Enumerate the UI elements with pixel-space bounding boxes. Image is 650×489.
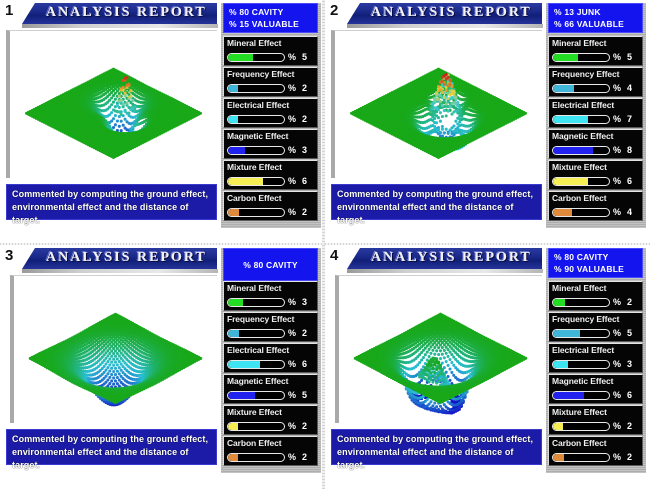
meter-mineral[interactable]: Mineral Effect%5 (223, 36, 318, 66)
meter-fill (553, 361, 568, 368)
meter-percent-symbol: % (288, 176, 296, 186)
meter-fill (553, 54, 578, 61)
meter-electrical[interactable]: Electrical Effect%3 (548, 343, 643, 373)
meter-percent-symbol: % (288, 297, 296, 307)
meter-value: 5 (627, 52, 632, 62)
meter-track (227, 146, 285, 155)
meter-track (552, 391, 610, 400)
comment-line-1: Commented by computing the ground effect… (337, 188, 537, 201)
meter-track (552, 115, 610, 124)
meter-track (552, 453, 610, 462)
meter-percent-symbol: % (288, 452, 296, 462)
status-line-1: % 80 CAVITY (243, 259, 297, 271)
meter-track (227, 329, 285, 338)
terrain-surface-plot (14, 276, 217, 423)
terrain-surface-plot (339, 276, 542, 423)
status-line-2: % 66 VALUABLE (554, 18, 642, 30)
title-bar: ANALYSIS REPORT (22, 248, 217, 269)
meter-label: Electrical Effect (552, 345, 614, 355)
meter-label: Magnetic Effect (552, 376, 613, 386)
meter-magnetic[interactable]: Magnetic Effect%3 (223, 129, 318, 159)
comment-line-2: environmental effect and the distance of… (12, 201, 212, 227)
effect-meter-list: Mineral Effect%3Frequency Effect%2Electr… (223, 281, 318, 467)
meter-value: 2 (302, 452, 307, 462)
meter-fill (553, 209, 572, 216)
meter-value: 3 (302, 297, 307, 307)
comment-line-1: Commented by computing the ground effect… (337, 433, 537, 446)
meter-percent-symbol: % (288, 207, 296, 217)
meter-percent-symbol: % (288, 114, 296, 124)
meter-value: 8 (627, 145, 632, 155)
plot-canvas (335, 31, 542, 178)
status-badge: % 13 JUNK% 66 VALUABLE (548, 3, 643, 33)
title-underbar (22, 269, 218, 273)
meter-label: Magnetic Effect (227, 376, 288, 386)
meter-carbon[interactable]: Carbon Effect%2 (223, 191, 318, 221)
meter-track (552, 208, 610, 217)
page-title: ANALYSIS REPORT (371, 250, 532, 266)
comment-box: Commented by computing the ground effect… (331, 429, 542, 465)
meter-value: 2 (302, 421, 307, 431)
meter-percent-symbol: % (613, 328, 621, 338)
meter-electrical[interactable]: Electrical Effect%2 (223, 98, 318, 128)
meter-track (552, 329, 610, 338)
page-title: ANALYSIS REPORT (371, 5, 532, 21)
meter-track (552, 84, 610, 93)
status-line-2: % 90 VALUABLE (554, 263, 642, 275)
plot-canvas (10, 31, 217, 178)
meter-frequency[interactable]: Frequency Effect%4 (548, 67, 643, 97)
meter-percent-symbol: % (613, 176, 621, 186)
analysis-report-grid: 1ANALYSIS REPORTCommented by computing t… (0, 0, 650, 489)
meter-mixture[interactable]: Mixture Effect%6 (548, 160, 643, 190)
title-underbar (347, 269, 543, 273)
meter-label: Mixture Effect (552, 407, 607, 417)
meter-value: 5 (627, 328, 632, 338)
meter-track (227, 208, 285, 217)
page-title: ANALYSIS REPORT (46, 250, 207, 266)
report-panel-1: 1ANALYSIS REPORTCommented by computing t… (0, 0, 325, 245)
meter-label: Frequency Effect (552, 69, 619, 79)
meter-label: Mixture Effect (552, 162, 607, 172)
meter-track (227, 298, 285, 307)
meter-label: Carbon Effect (227, 438, 281, 448)
meter-mineral[interactable]: Mineral Effect%2 (548, 281, 643, 311)
meter-track (227, 177, 285, 186)
meter-label: Mineral Effect (227, 283, 281, 293)
panel-number: 1 (5, 3, 13, 19)
status-line-1: % 13 JUNK (554, 6, 642, 18)
meter-label: Electrical Effect (227, 100, 289, 110)
meter-track (552, 422, 610, 431)
plot-canvas (339, 276, 542, 423)
meter-track (227, 422, 285, 431)
meter-value: 4 (627, 83, 632, 93)
meter-percent-symbol: % (288, 83, 296, 93)
plot-canvas (14, 276, 217, 423)
comment-box: Commented by computing the ground effect… (331, 184, 542, 220)
report-panel-4: 4ANALYSIS REPORTCommented by computing t… (325, 245, 650, 489)
meter-fill (228, 299, 243, 306)
meter-fill (228, 85, 238, 92)
meter-percent-symbol: % (613, 421, 621, 431)
meter-value: 6 (302, 359, 307, 369)
meter-value: 7 (627, 114, 632, 124)
effect-meter-list: Mineral Effect%2Frequency Effect%5Electr… (548, 281, 643, 467)
meter-percent-symbol: % (613, 452, 621, 462)
title-bar: ANALYSIS REPORT (347, 248, 542, 269)
meter-fill (553, 116, 588, 123)
terrain-surface-plot (335, 31, 542, 178)
meter-value: 2 (302, 207, 307, 217)
meter-label: Carbon Effect (227, 193, 281, 203)
readout-rail: % 80 CAVITY% 90 VALUABLEMineral Effect%2… (546, 248, 646, 473)
meter-mixture[interactable]: Mixture Effect%6 (223, 160, 318, 190)
meter-track (227, 391, 285, 400)
meter-fill (228, 423, 238, 430)
meter-carbon[interactable]: Carbon Effect%2 (548, 436, 643, 466)
meter-percent-symbol: % (613, 83, 621, 93)
meter-value: 2 (302, 83, 307, 93)
comment-line-2: environmental effect and the distance of… (337, 201, 537, 227)
page-title: ANALYSIS REPORT (46, 5, 207, 21)
meter-percent-symbol: % (613, 390, 621, 400)
meter-label: Carbon Effect (552, 438, 606, 448)
meter-fill (553, 423, 563, 430)
meter-value: 6 (627, 390, 632, 400)
comment-line-1: Commented by computing the ground effect… (12, 433, 212, 446)
meter-label: Mixture Effect (227, 407, 282, 417)
meter-frequency[interactable]: Frequency Effect%5 (548, 312, 643, 342)
meter-fill (553, 392, 584, 399)
meter-value: 2 (627, 297, 632, 307)
effect-meter-list: Mineral Effect%5Frequency Effect%4Electr… (548, 36, 643, 222)
meter-percent-symbol: % (288, 328, 296, 338)
meter-label: Frequency Effect (552, 314, 619, 324)
meter-percent-symbol: % (288, 145, 296, 155)
meter-value: 5 (302, 52, 307, 62)
meter-track (552, 177, 610, 186)
meter-percent-symbol: % (288, 52, 296, 62)
meter-track (227, 453, 285, 462)
meter-percent-symbol: % (288, 359, 296, 369)
status-badge: % 80 CAVITY% 90 VALUABLE (548, 248, 643, 278)
plot-frame (335, 275, 542, 423)
meter-label: Electrical Effect (552, 100, 614, 110)
readout-rail: % 80 CAVITY% 15 VALUABLEMineral Effect%5… (221, 3, 321, 228)
meter-frequency[interactable]: Frequency Effect%2 (223, 67, 318, 97)
readout-rail: % 13 JUNK% 66 VALUABLEMineral Effect%5Fr… (546, 3, 646, 228)
meter-label: Mineral Effect (552, 38, 606, 48)
meter-fill (228, 54, 253, 61)
meter-mineral[interactable]: Mineral Effect%3 (223, 281, 318, 311)
status-badge: % 80 CAVITY% 15 VALUABLE (223, 3, 318, 33)
meter-value: 6 (302, 176, 307, 186)
meter-track (552, 146, 610, 155)
meter-carbon[interactable]: Carbon Effect%4 (548, 191, 643, 221)
title-bar: ANALYSIS REPORT (347, 3, 542, 24)
meter-value: 6 (627, 176, 632, 186)
meter-track (227, 360, 285, 369)
terrain-surface-plot (10, 31, 217, 178)
meter-percent-symbol: % (613, 114, 621, 124)
status-line-1: % 80 CAVITY (229, 6, 317, 18)
effect-meter-list: Mineral Effect%5Frequency Effect%2Electr… (223, 36, 318, 222)
meter-fill (228, 116, 238, 123)
meter-percent-symbol: % (288, 421, 296, 431)
comment-line-1: Commented by computing the ground effect… (12, 188, 212, 201)
meter-track (227, 53, 285, 62)
meter-percent-symbol: % (613, 359, 621, 369)
panel-number: 2 (330, 3, 338, 19)
plot-frame (10, 275, 217, 423)
meter-fill (553, 147, 593, 154)
meter-label: Electrical Effect (227, 345, 289, 355)
meter-fill (553, 330, 580, 337)
meter-electrical[interactable]: Electrical Effect%6 (223, 343, 318, 373)
meter-fill (228, 209, 239, 216)
status-line-1: % 80 CAVITY (554, 251, 642, 263)
meter-fill (553, 299, 565, 306)
meter-label: Mixture Effect (227, 162, 282, 172)
status-badge: % 80 CAVITY (223, 248, 318, 281)
meter-fill (228, 361, 260, 368)
meter-fill (228, 147, 245, 154)
meter-carbon[interactable]: Carbon Effect%2 (223, 436, 318, 466)
meter-label: Carbon Effect (552, 193, 606, 203)
meter-track (552, 53, 610, 62)
comment-line-2: environmental effect and the distance of… (337, 446, 537, 472)
meter-frequency[interactable]: Frequency Effect%2 (223, 312, 318, 342)
meter-fill (228, 454, 238, 461)
meter-percent-symbol: % (613, 297, 621, 307)
meter-mineral[interactable]: Mineral Effect%5 (548, 36, 643, 66)
meter-value: 3 (627, 359, 632, 369)
meter-label: Frequency Effect (227, 314, 294, 324)
meter-electrical[interactable]: Electrical Effect%7 (548, 98, 643, 128)
meter-percent-symbol: % (613, 145, 621, 155)
meter-mixture[interactable]: Mixture Effect%2 (223, 405, 318, 435)
meter-label: Magnetic Effect (552, 131, 613, 141)
meter-percent-symbol: % (613, 207, 621, 217)
meter-magnetic[interactable]: Magnetic Effect%6 (548, 374, 643, 404)
meter-track (227, 84, 285, 93)
meter-fill (553, 454, 564, 461)
meter-label: Frequency Effect (227, 69, 294, 79)
readout-rail: % 80 CAVITYMineral Effect%3Frequency Eff… (221, 248, 321, 473)
meter-value: 2 (627, 452, 632, 462)
meter-magnetic[interactable]: Magnetic Effect%8 (548, 129, 643, 159)
plot-frame (6, 30, 217, 178)
meter-track (227, 115, 285, 124)
comment-box: Commented by computing the ground effect… (6, 184, 217, 220)
title-underbar (22, 24, 218, 28)
meter-value: 4 (627, 207, 632, 217)
report-panel-2: 2ANALYSIS REPORTCommented by computing t… (325, 0, 650, 245)
meter-value: 2 (302, 114, 307, 124)
meter-value: 2 (302, 328, 307, 338)
title-underbar (347, 24, 543, 28)
meter-fill (228, 178, 263, 185)
meter-label: Mineral Effect (552, 283, 606, 293)
meter-value: 2 (627, 421, 632, 431)
comment-box: Commented by computing the ground effect… (6, 429, 217, 465)
title-bar: ANALYSIS REPORT (22, 3, 217, 24)
meter-value: 3 (302, 145, 307, 155)
meter-mixture[interactable]: Mixture Effect%2 (548, 405, 643, 435)
meter-fill (228, 392, 255, 399)
meter-track (552, 298, 610, 307)
meter-label: Mineral Effect (227, 38, 281, 48)
report-panel-3: 3ANALYSIS REPORTCommented by computing t… (0, 245, 325, 489)
panel-number: 4 (330, 248, 338, 264)
meter-percent-symbol: % (613, 52, 621, 62)
status-line-2: % 15 VALUABLE (229, 18, 317, 30)
meter-percent-symbol: % (288, 390, 296, 400)
plot-frame (331, 30, 542, 178)
meter-label: Magnetic Effect (227, 131, 288, 141)
meter-fill (228, 330, 239, 337)
meter-track (552, 360, 610, 369)
meter-fill (553, 85, 574, 92)
meter-magnetic[interactable]: Magnetic Effect%5 (223, 374, 318, 404)
meter-fill (553, 178, 588, 185)
panel-number: 3 (5, 248, 13, 264)
meter-value: 5 (302, 390, 307, 400)
comment-line-2: environmental effect and the distance of… (12, 446, 212, 472)
